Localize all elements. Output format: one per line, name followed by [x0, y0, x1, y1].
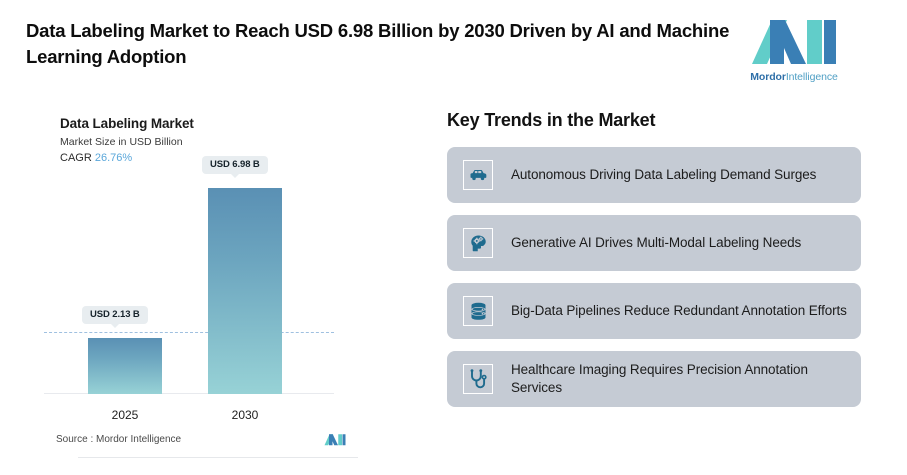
- trends-heading: Key Trends in the Market: [447, 110, 861, 131]
- trend-card-big-data-pipelines[interactable]: Big-Data Pipelines Reduce Redundant Anno…: [447, 283, 861, 339]
- stethoscope-icon: [463, 364, 493, 394]
- trend-label: Healthcare Imaging Requires Precision An…: [511, 361, 847, 397]
- bar-value-label-2025: USD 2.13 B: [82, 306, 148, 324]
- bar-value-label-2030: USD 6.98 B: [202, 156, 268, 174]
- x-axis-label-2030: 2030: [208, 408, 282, 422]
- trend-card-healthcare-imaging[interactable]: Healthcare Imaging Requires Precision An…: [447, 351, 861, 407]
- key-trends-panel: Key Trends in the Market Autonomous Driv…: [447, 110, 861, 419]
- brand-name-primary: Mordor: [750, 71, 786, 83]
- brand-name-secondary: Intelligence: [786, 71, 838, 83]
- trend-label: Generative AI Drives Multi-Modal Labelin…: [511, 234, 801, 252]
- trend-card-autonomous-driving[interactable]: Autonomous Driving Data Labeling Demand …: [447, 147, 861, 203]
- chart-footer: Source : Mordor Intelligence: [56, 433, 346, 446]
- chart-divider: [78, 457, 358, 458]
- trend-label: Autonomous Driving Data Labeling Demand …: [511, 166, 816, 184]
- car-icon: [463, 160, 493, 190]
- reference-dashed-line: [44, 332, 334, 333]
- chart-source: Source : Mordor Intelligence: [56, 434, 181, 445]
- brand-logo-text: MordorIntelligence: [750, 71, 837, 83]
- mordor-mini-logo-icon: [324, 433, 346, 446]
- page-header: Data Labeling Market to Reach USD 6.98 B…: [0, 0, 907, 92]
- bar-2030[interactable]: [208, 188, 282, 394]
- database-icon: [463, 296, 493, 326]
- market-size-chart: Data Labeling Market Market Size in USD …: [30, 100, 400, 450]
- x-axis-label-2025: 2025: [88, 408, 162, 422]
- chart-plot-area: USD 2.13 B USD 6.98 B 2025 2030: [30, 100, 400, 450]
- brain-gears-icon: [463, 228, 493, 258]
- brand-logo: MordorIntelligence: [738, 16, 850, 83]
- trend-card-generative-ai[interactable]: Generative AI Drives Multi-Modal Labelin…: [447, 215, 861, 271]
- trend-label: Big-Data Pipelines Reduce Redundant Anno…: [511, 302, 847, 320]
- mordor-m-i-logo-icon: [750, 18, 838, 64]
- page-title: Data Labeling Market to Reach USD 6.98 B…: [26, 16, 738, 71]
- bar-2025[interactable]: [88, 338, 162, 394]
- infographic-page: Data Labeling Market to Reach USD 6.98 B…: [0, 0, 907, 475]
